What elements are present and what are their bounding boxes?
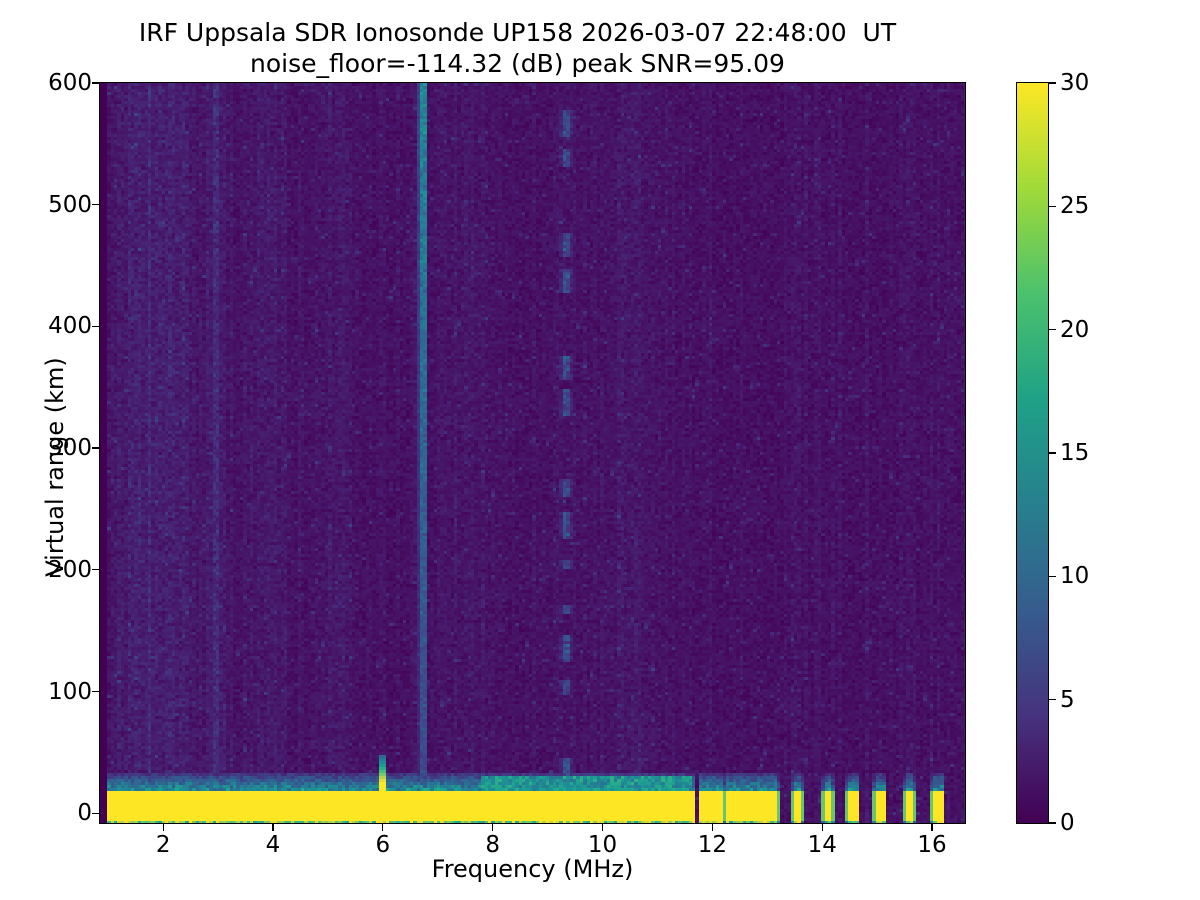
y-axis-tick-label: 600 — [12, 70, 92, 96]
ionogram-heatmap — [100, 83, 965, 823]
y-axis-tick-mark — [92, 813, 99, 814]
colorbar-tick-mark — [1049, 329, 1056, 330]
x-axis-tick-label: 16 — [902, 832, 962, 858]
y-axis-tick-label: 500 — [12, 192, 92, 218]
x-axis-tick-mark — [272, 824, 273, 831]
colorbar-gradient — [1017, 83, 1048, 823]
y-axis-tick-label: 0 — [12, 800, 92, 826]
x-axis-tick-label: 10 — [573, 832, 633, 858]
colorbar-tick-mark — [1049, 699, 1056, 700]
x-axis-tick-mark — [822, 824, 823, 831]
x-axis-tick-label: 6 — [353, 832, 413, 858]
x-axis-tick-mark — [712, 824, 713, 831]
colorbar — [1016, 82, 1049, 824]
y-axis-tick-label: 100 — [12, 679, 92, 705]
y-axis-tick-mark — [92, 447, 99, 448]
x-axis-tick-label: 8 — [463, 832, 523, 858]
colorbar-tick-mark — [1049, 82, 1056, 83]
y-axis-tick-label: 200 — [12, 557, 92, 583]
x-axis-tick-label: 14 — [792, 832, 852, 858]
x-axis-tick-label: 4 — [243, 832, 303, 858]
title-line-1: IRF Uppsala SDR Ionosonde UP158 2026-03-… — [0, 18, 1035, 49]
y-axis-tick-label: 400 — [12, 313, 92, 339]
x-axis-tick-mark — [382, 824, 383, 831]
colorbar-tick-label: 25 — [1060, 193, 1089, 219]
y-axis-tick-mark — [92, 326, 99, 327]
y-axis-tick-mark — [92, 204, 99, 205]
ionogram-figure: IRF Uppsala SDR Ionosonde UP158 2026-03-… — [0, 0, 1200, 900]
y-axis-tick-mark — [92, 691, 99, 692]
colorbar-tick-label: 30 — [1060, 70, 1089, 96]
x-axis-tick-mark — [492, 824, 493, 831]
colorbar-tick-mark — [1049, 576, 1056, 577]
y-axis-tick-label: 300 — [12, 435, 92, 461]
x-axis-tick-mark — [163, 824, 164, 831]
ionogram-plot-area — [99, 82, 966, 824]
colorbar-tick-label: 20 — [1060, 317, 1089, 343]
title-line-2: noise_floor=-114.32 (dB) peak SNR=95.09 — [0, 49, 1035, 80]
y-axis-tick-mark — [92, 82, 99, 83]
colorbar-tick-label: 10 — [1060, 563, 1089, 589]
x-axis-tick-mark — [931, 824, 932, 831]
colorbar-tick-mark — [1049, 822, 1056, 823]
colorbar-tick-mark — [1049, 452, 1056, 453]
colorbar-tick-mark — [1049, 206, 1056, 207]
colorbar-tick-label: 0 — [1060, 810, 1075, 836]
x-axis-tick-label: 12 — [682, 832, 742, 858]
y-axis-tick-mark — [92, 569, 99, 570]
x-axis-tick-mark — [602, 824, 603, 831]
figure-title: IRF Uppsala SDR Ionosonde UP158 2026-03-… — [0, 18, 1035, 79]
colorbar-tick-label: 15 — [1060, 440, 1089, 466]
x-axis-label: Frequency (MHz) — [99, 855, 966, 883]
colorbar-tick-label: 5 — [1060, 687, 1075, 713]
x-axis-tick-label: 2 — [133, 832, 193, 858]
